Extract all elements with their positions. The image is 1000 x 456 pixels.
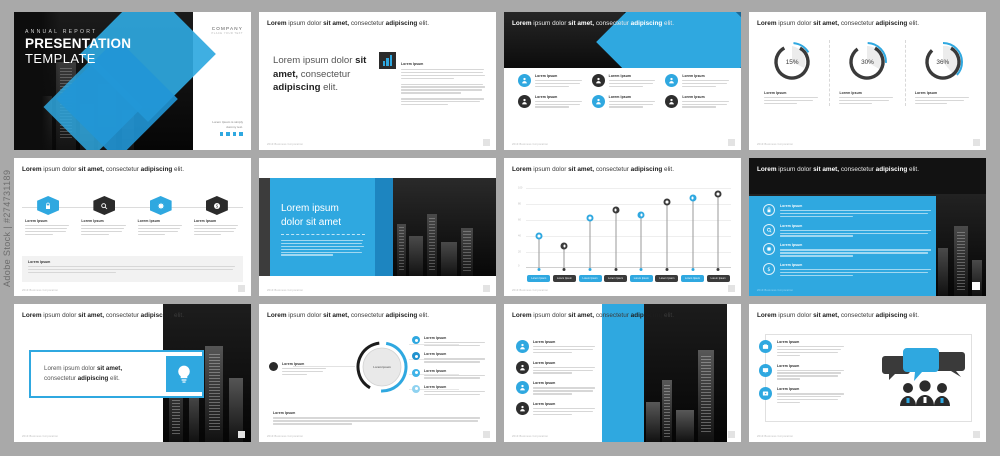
monitor-icon [759, 364, 772, 377]
callout-text: Lorem ipsum dolor sit amet, consectetur … [44, 364, 154, 384]
lock-icon [37, 196, 59, 215]
city-photo [644, 304, 727, 442]
slide-number [728, 285, 735, 292]
item-title: Lorem Ipsum [777, 364, 845, 368]
slide-footer: 2019 Business Corporation [512, 435, 548, 438]
x-label[interactable]: Lorem Ipsum [681, 275, 704, 282]
block-title: Lorem Ipsum [401, 62, 486, 66]
title-line-1: PRESENTATION [25, 37, 131, 52]
company-name: COMPANY [212, 26, 243, 31]
y-tick: 20 [518, 251, 521, 254]
company-block: COMPANY PLACE YOUR TEXT [212, 26, 243, 35]
user-icon [516, 381, 529, 394]
node-dot [412, 336, 420, 344]
data-point [535, 233, 542, 240]
slide-number [483, 285, 490, 292]
stock-watermark-left: Adobe Stock | #274731189 [0, 0, 14, 456]
item-title: Lorem Ipsum [609, 74, 658, 78]
company-subtitle: PLACE YOUR TEXT [212, 32, 243, 35]
timeline-node[interactable]: Lorem Ipsum [22, 196, 74, 237]
stem-point[interactable] [682, 188, 704, 268]
tagline-line-2: dummy text. [212, 125, 243, 130]
title-block: ANNUAL REPORT PRESENTATION TEMPLATE [25, 29, 131, 66]
stem-chart: 100 80 60 40 20 0 [518, 188, 731, 268]
item-title: Lorem Ipsum [535, 74, 584, 78]
header-band [749, 158, 986, 194]
caption-title: Lorem Ipsum [764, 91, 820, 95]
caption-title: Lorem Ipsum [839, 91, 895, 95]
right-node[interactable]: Lorem Ipsum [412, 369, 488, 381]
list-item[interactable]: Lorem Ipsum [592, 95, 658, 110]
right-node[interactable]: Lorem Ipsum [412, 352, 488, 364]
right-node[interactable]: Lorem Ipsum [412, 336, 488, 348]
timeline-node[interactable]: Lorem Ipsum [135, 196, 187, 237]
slide-number [728, 431, 735, 438]
feature-text: Lorem ipsum dolor sit amet, consectetur … [273, 54, 368, 95]
timeline-node[interactable]: Lorem Ipsum [78, 196, 130, 237]
user-icon [665, 74, 678, 87]
right-nodes: Lorem Ipsum Lorem Ipsum Lorem Ipsum Lore… [412, 336, 488, 401]
x-label[interactable]: Lorem Ipsum [707, 275, 730, 282]
feature-list: Lorem Ipsum Lorem Ipsum Lorem Ipsum $Lor… [763, 204, 933, 283]
dollar-icon: $ [206, 196, 228, 215]
caption-title: Lorem Ipsum [915, 91, 971, 95]
user-icon [516, 361, 529, 374]
item-title: Lorem Ipsum [533, 381, 598, 385]
people-speech-bubbles-illustration [880, 348, 968, 406]
slide-six-item-icon-grid[interactable]: Lorem ipsum dolor sit amet, consectetur … [504, 12, 741, 150]
user-icon [592, 95, 605, 108]
slide-title: Lorem ipsum dolor sit amet [281, 202, 341, 229]
body-text [281, 240, 365, 257]
data-point [561, 243, 568, 250]
slide-heading: Lorem ipsum dolor sit amet, consectetur … [757, 311, 974, 321]
donut-item[interactable]: 36% Lorem Ipsum [905, 40, 980, 106]
timeline-nodes: Lorem Ipsum Lorem Ipsum Lorem Ipsum $ Lo… [20, 196, 245, 237]
node-dot [412, 385, 420, 393]
data-point [638, 212, 645, 219]
donut-item[interactable]: 30% Lorem Ipsum [829, 40, 904, 106]
donut-value: 36% [921, 40, 965, 84]
user-icon [516, 402, 529, 415]
user-icon [518, 74, 531, 87]
city-photo [393, 178, 496, 276]
stem-point[interactable] [579, 188, 601, 268]
slide-footer: 2019 Business Corporation [757, 143, 793, 146]
slide-footer: 2019 Business Corporation [757, 289, 793, 292]
slide-number [972, 282, 980, 290]
list-item[interactable]: Lorem Ipsum [592, 74, 658, 89]
y-tick: 60 [518, 219, 521, 222]
list-item[interactable]: Lorem Ipsum [518, 95, 584, 110]
accent-strip [375, 178, 393, 276]
lightbulb-icon [166, 356, 202, 392]
node-dot [412, 369, 420, 377]
slide-number [238, 431, 245, 438]
slide-number [973, 139, 980, 146]
stem-point[interactable] [656, 188, 678, 268]
user-icon [592, 74, 605, 87]
x-label[interactable]: Lorem Ipsum [655, 275, 678, 282]
slide-heading: Lorem ipsum dolor sit amet, consectetur … [22, 311, 239, 321]
slide-donut-percentages[interactable]: Lorem ipsum dolor sit amet, consectetur … [749, 12, 986, 150]
slide-footer: 2019 Business Corporation [267, 289, 303, 292]
donut-caption: Lorem Ipsum [915, 91, 971, 106]
node-title: Lorem Ipsum [81, 219, 127, 223]
content-strip: Lorem ipsum dolor sit amet [259, 178, 496, 276]
node-title: Lorem Ipsum [424, 369, 488, 373]
item-title: Lorem Ipsum [777, 340, 845, 344]
list-item[interactable]: Lorem Ipsum [516, 381, 598, 396]
y-tick: 100 [518, 187, 522, 190]
item-title: Lorem Ipsum [533, 402, 598, 406]
donut-chart: 30% [845, 40, 889, 84]
item-title: Lorem Ipsum [780, 224, 933, 228]
item-title: Lorem Ipsum [780, 243, 933, 247]
item-title: Lorem Ipsum [533, 361, 598, 365]
data-point [612, 207, 619, 214]
slide-hexagon-timeline[interactable]: Lorem ipsum dolor sit amet, consectetur … [14, 158, 251, 296]
paragraph-block: Lorem Ipsum [401, 62, 486, 107]
x-axis-labels: Lorem Ipsum Lorem Ipsum Lorem Ipsum Lore… [526, 275, 731, 282]
data-point [587, 215, 594, 222]
donut-caption: Lorem Ipsum [764, 91, 820, 106]
box-title: Lorem Ipsum [28, 260, 237, 264]
bar-chart-icon [379, 52, 396, 69]
donut-value: 15% [770, 40, 814, 84]
right-node[interactable]: Lorem Ipsum [412, 385, 488, 397]
slide-number [238, 285, 245, 292]
feature-list: Lorem Ipsum Lorem Ipsum Lorem Ipsum Lore… [516, 340, 598, 423]
x-label[interactable]: Lorem Ipsum [604, 275, 627, 282]
list-item[interactable]: Lorem Ipsum [763, 224, 933, 239]
list-item[interactable]: Lorem Ipsum [759, 340, 845, 358]
y-tick: 40 [518, 235, 521, 238]
stem-point[interactable] [528, 188, 550, 268]
list-item[interactable]: $Lorem Ipsum [763, 263, 933, 278]
donut-chart-row: 15% Lorem Ipsum 30% Lorem Ipsu [755, 40, 980, 106]
left-node[interactable]: Lorem Ipsum [269, 362, 328, 377]
summary-box: Lorem Ipsum [22, 256, 243, 282]
wrench-icon [763, 243, 775, 255]
node-title: Lorem Ipsum [194, 219, 240, 223]
user-icon [518, 95, 531, 108]
kicker-text: ANNUAL REPORT [25, 29, 131, 35]
slide-heading: Lorem ipsum dolor sit amet, consectetur … [757, 165, 974, 175]
slide-two-column-text[interactable]: Lorem ipsum dolor sit amet, consectetur … [259, 12, 496, 150]
node-title: Lorem Ipsum [424, 336, 488, 340]
list-item[interactable]: Lorem Ipsum [516, 361, 598, 376]
donut-chart: 15% [770, 40, 814, 84]
x-label[interactable]: Lorem Ipsum [527, 275, 550, 282]
x-label[interactable]: Lorem Ipsum [553, 275, 576, 282]
title-line-2: TEMPLATE [25, 52, 131, 66]
item-title: Lorem Ipsum [780, 263, 933, 267]
stem-series [526, 188, 731, 268]
item-title: Lorem Ipsum [609, 95, 658, 99]
node-title: Lorem Ipsum [138, 219, 184, 223]
user-icon [516, 340, 529, 353]
timeline-node[interactable]: $ Lorem Ipsum [191, 196, 243, 237]
search-icon [93, 196, 115, 215]
pagination-dots[interactable] [212, 132, 243, 136]
data-point [715, 191, 722, 198]
slide-stem-chart[interactable]: Lorem ipsum dolor sit amet, consectetur … [504, 158, 741, 296]
slide-footer: 2019 Business Corporation [757, 435, 793, 438]
slide-title[interactable]: ANNUAL REPORT PRESENTATION TEMPLATE COMP… [14, 12, 251, 150]
slide-circle-diagram[interactable]: Lorem ipsum dolor sit amet, consectetur … [259, 304, 496, 442]
blue-column [602, 304, 644, 442]
y-tick: 80 [518, 203, 521, 206]
slide-heading: Lorem ipsum dolor sit amet, consectetur … [512, 311, 729, 321]
item-title: Lorem Ipsum [780, 204, 933, 208]
stem-point[interactable] [630, 188, 652, 268]
item-title: Lorem Ipsum [682, 95, 731, 99]
stem-point[interactable] [605, 188, 627, 268]
slide-footer: 2019 Business Corporation [267, 435, 303, 438]
donut-value: 30% [845, 40, 889, 84]
x-label[interactable]: Lorem Ipsum [630, 275, 653, 282]
item-title: Lorem Ipsum [535, 95, 584, 99]
slide-heading: Lorem ipsum dolor sit amet, consectetur … [512, 165, 729, 175]
donut-chart: 36% [921, 40, 965, 84]
list-item[interactable]: Lorem Ipsum [665, 74, 731, 89]
node-title: Lorem Ipsum [25, 219, 71, 223]
slide-dark-blue-list[interactable]: Lorem ipsum dolor sit amet, consectetur … [749, 158, 986, 296]
slide-idea-callout[interactable]: Lorem ipsum dolor sit amet, consectetur … [14, 304, 251, 442]
slide-heading: Lorem ipsum dolor sit amet, consectetur … [267, 311, 484, 321]
slide-footer: 2019 Business Corporation [22, 289, 58, 292]
node-dot [412, 352, 420, 360]
slide-number [973, 431, 980, 438]
slide-heading: Lorem ipsum dolor sit amet, consectetur … [22, 165, 239, 175]
stem-point[interactable] [553, 188, 575, 268]
tagline-block: Lorem Ipsum is simply dummy text. [212, 120, 243, 136]
node-title: Lorem Ipsum [424, 385, 488, 389]
slide-number [483, 431, 490, 438]
center-label: Lorem Ipsum [355, 340, 409, 394]
lock-icon [763, 204, 775, 216]
stem-point[interactable] [707, 188, 729, 268]
wrench-icon [150, 196, 172, 215]
svg-text:$: $ [767, 267, 770, 272]
item-title: Lorem Ipsum [533, 340, 598, 344]
search-icon [763, 224, 775, 236]
list-item[interactable]: Lorem Ipsum [759, 364, 845, 382]
slide-blue-panel-photo[interactable]: Lorem ipsum dolor sit amet 2019 Business… [259, 158, 496, 296]
summary-block: Lorem Ipsum [273, 411, 482, 426]
list-item[interactable]: Lorem Ipsum [763, 243, 933, 258]
node-title: Lorem Ipsum [282, 362, 328, 366]
list-item[interactable]: Lorem Ipsum [516, 402, 598, 417]
node-title: Lorem Ipsum [424, 352, 488, 356]
slide-footer: 2019 Business Corporation [22, 435, 58, 438]
slide-heading: Lorem ipsum dolor sit amet, consectetur … [512, 19, 729, 29]
briefcase-icon [759, 340, 772, 353]
play-icon [759, 387, 772, 400]
slide-footer: 2019 Business Corporation [512, 143, 548, 146]
node-dot [269, 362, 278, 371]
divider [281, 234, 365, 235]
donut-caption: Lorem Ipsum [839, 91, 895, 106]
list-item[interactable]: Lorem Ipsum [759, 387, 845, 405]
list-item[interactable]: Lorem Ipsum [763, 204, 933, 219]
slide-heading: Lorem ipsum dolor sit amet, consectetur … [267, 19, 484, 29]
list-item[interactable]: Lorem Ipsum [665, 95, 731, 110]
item-grid: Lorem Ipsum Lorem Ipsum Lorem Ipsum Lore… [518, 74, 731, 109]
donut-item[interactable]: 15% Lorem Ipsum [755, 40, 829, 106]
item-title: Lorem Ipsum [682, 74, 731, 78]
dollar-icon: $ [763, 263, 775, 275]
x-label[interactable]: Lorem Ipsum [579, 275, 602, 282]
item-title: Lorem Ipsum [777, 387, 845, 391]
slide-number [483, 139, 490, 146]
user-icon [665, 95, 678, 108]
slide-heading: Lorem ipsum dolor sit amet, consectetur … [757, 19, 974, 29]
feature-list: Lorem Ipsum Lorem Ipsum Lorem Ipsum [759, 340, 845, 411]
list-item[interactable]: Lorem Ipsum [518, 74, 584, 89]
data-point [663, 199, 670, 206]
slide-footer: 2019 Business Corporation [267, 143, 303, 146]
slide-footer: 2019 Business Corporation [512, 289, 548, 292]
summary-title: Lorem Ipsum [273, 411, 482, 415]
slide-four-item-photo[interactable]: Lorem ipsum dolor sit amet, consectetur … [504, 304, 741, 442]
slide-number [728, 139, 735, 146]
slide-grid: ANNUAL REPORT PRESENTATION TEMPLATE COMP… [14, 12, 988, 444]
data-point [689, 195, 696, 202]
list-item[interactable]: Lorem Ipsum [516, 340, 598, 355]
circle-diagram: Lorem Ipsum [355, 340, 409, 394]
y-tick: 0 [518, 265, 519, 268]
slide-communication[interactable]: Lorem ipsum dolor sit amet, consectetur … [749, 304, 986, 442]
